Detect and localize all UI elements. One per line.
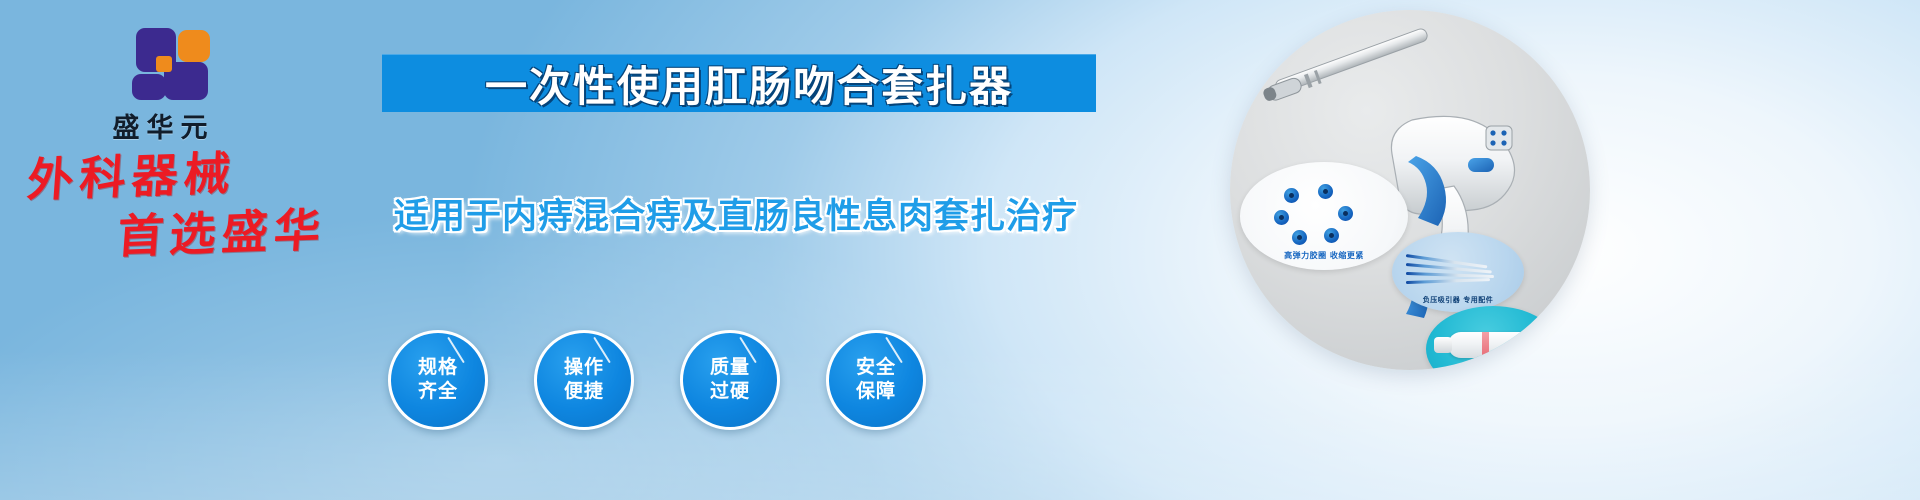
- feature-badge-safety-line1: 安全: [856, 356, 896, 380]
- feature-badge-operation[interactable]: 操作 便捷: [534, 330, 634, 430]
- rubber-ring-1: [1284, 188, 1299, 203]
- bottom-glow-decor: [0, 350, 1920, 500]
- rubber-ring-5: [1292, 230, 1307, 245]
- feature-badge-specs-line2: 齐全: [418, 380, 458, 404]
- shenghuayuan-logo-mark-icon: [112, 26, 208, 100]
- device-head-body: [1448, 332, 1540, 358]
- feature-badge-safety-line2: 保障: [856, 380, 896, 404]
- inset-rubber-rings: 高弹力胶圈 收缩更紧: [1240, 162, 1408, 270]
- feature-badge-quality-line1: 质量: [710, 356, 750, 380]
- promo-banner: 盛华元 外科器械 首选盛华 一次性使用肛肠吻合套扎器 适用于内痔混合痔及直肠良性…: [0, 0, 1920, 500]
- device-head-tip: [1434, 337, 1452, 353]
- feature-badge-quality-line2: 过硬: [710, 380, 750, 404]
- logo-block-orange-center: [156, 56, 172, 72]
- product-photo[interactable]: 高弹力胶圈 收缩更紧 负压吸引器 专用配件: [1230, 10, 1590, 370]
- feature-badge-list: 规格 齐全 操作 便捷 质量 过硬 安全 保障: [388, 330, 926, 430]
- rubber-ring-2: [1318, 184, 1333, 199]
- inset-ligation-needles: 负压吸引器 专用配件: [1392, 232, 1524, 312]
- rubber-ring-4: [1324, 228, 1339, 243]
- device-head-band: [1482, 332, 1489, 358]
- brand-logo[interactable]: 盛华元: [60, 26, 260, 145]
- logo-block-orange-top: [178, 30, 210, 62]
- feature-badge-specs[interactable]: 规格 齐全: [388, 330, 488, 430]
- rubber-ring-6: [1274, 210, 1289, 225]
- logo-block-purple-bottom: [132, 74, 166, 100]
- inset-ligation-needles-caption: 负压吸引器 专用配件: [1392, 295, 1524, 305]
- needle-3: [1406, 272, 1494, 278]
- feature-badge-specs-line1: 规格: [418, 356, 458, 380]
- page-subtitle: 适用于内痔混合痔及直肠良性息肉套扎治疗: [356, 188, 1116, 239]
- rubber-ring-3: [1338, 206, 1353, 221]
- needle-4: [1406, 278, 1490, 284]
- inset-rubber-rings-caption: 高弹力胶圈 收缩更紧: [1240, 250, 1408, 261]
- brand-name: 盛华元: [60, 106, 260, 145]
- feature-badge-safety[interactable]: 安全 保障: [826, 330, 926, 430]
- feature-badge-quality[interactable]: 质量 过硬: [680, 330, 780, 430]
- page-title: 一次性使用肛肠吻合套扎器: [404, 52, 1094, 114]
- feature-badge-operation-line2: 便捷: [564, 380, 604, 404]
- feature-badge-operation-line1: 操作: [564, 356, 604, 380]
